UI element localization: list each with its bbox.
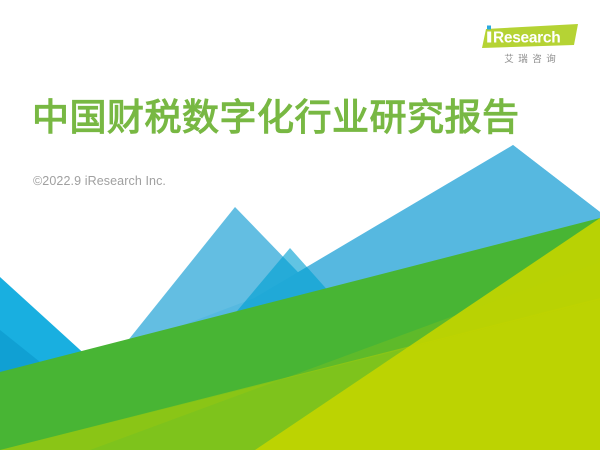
shape-lime-right-wedge xyxy=(255,218,600,450)
shape-lime-bottom-overlay xyxy=(0,298,600,450)
logo-wordmark-latin: Research xyxy=(493,29,560,46)
iresearch-logo: Research 艾瑞咨询 xyxy=(478,24,582,66)
shape-blue-left-peak xyxy=(0,277,190,450)
background-artwork xyxy=(0,0,600,450)
copyright-notice: ©2022.9 iResearch Inc. xyxy=(33,173,166,189)
shape-lime-left-tint xyxy=(0,262,600,450)
logo-i-stem xyxy=(487,32,491,43)
shape-green-main-band xyxy=(0,218,600,450)
shape-blue-overlap-core xyxy=(120,248,470,450)
page-title: 中国财税数字化行业研究报告 xyxy=(32,96,520,140)
shape-blue-left-shadow xyxy=(0,330,150,450)
shape-blue-right-body xyxy=(200,145,600,450)
report-cover-slide: Research 艾瑞咨询 中国财税数字化行业研究报告 ©2022.9 iRes… xyxy=(0,0,600,450)
shape-blue-middle-peak xyxy=(40,207,470,450)
logo-mark: Research xyxy=(478,24,582,50)
logo-i-dot-icon xyxy=(487,26,491,30)
logo-wordmark-chinese: 艾瑞咨询 xyxy=(478,54,582,66)
shape-blue-right-peak xyxy=(170,145,600,330)
